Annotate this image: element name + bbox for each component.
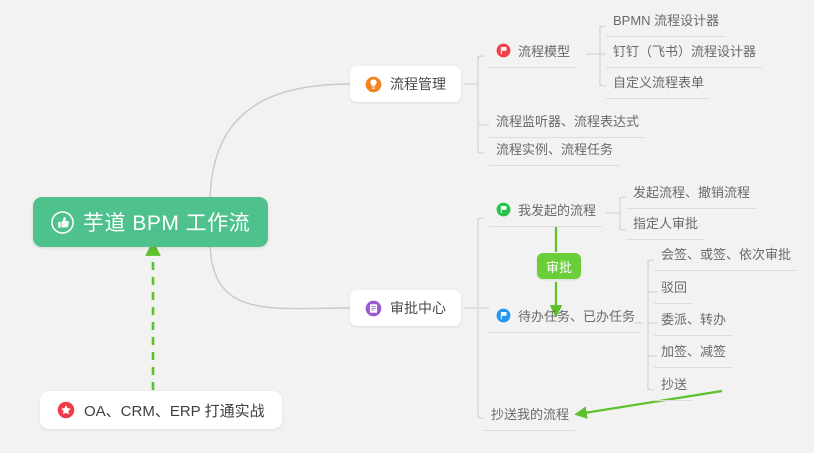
node-assignee-approval-label: 指定人审批 [633, 213, 698, 234]
node-instance-task-label: 流程实例、流程任务 [496, 139, 613, 160]
branch-node-process-management[interactable]: 流程管理 [350, 66, 461, 102]
edge-root-to-process-management [210, 84, 350, 204]
bottom-node-integration-label: OA、CRM、ERP 打通实战 [84, 400, 265, 421]
edge-approval-center-bracket [464, 218, 478, 418]
branch-node-process-management-label: 流程管理 [390, 74, 446, 94]
edge-process-model-bracket [586, 26, 600, 86]
node-countersign-approval-label: 会签、或签、依次审批 [661, 244, 791, 265]
annotation-arrow-cc [578, 391, 722, 414]
node-reject-label: 驳回 [661, 277, 687, 298]
node-cc-to-me-process[interactable]: 抄送我的流程 [484, 404, 575, 431]
node-carbon-copy[interactable]: 抄送 [654, 374, 693, 401]
node-custom-process-form-label: 自定义流程表单 [613, 72, 704, 93]
document-icon [365, 300, 382, 317]
node-process-model[interactable]: 流程模型 [489, 41, 576, 68]
node-start-cancel-process[interactable]: 发起流程、撤销流程 [626, 182, 756, 209]
thumbs-up-icon [51, 211, 74, 234]
edge-process-management-corner-top [478, 56, 484, 62]
node-todo-done-task-label: 待办任务、已办任务 [518, 306, 635, 327]
root-node-label: 芋道 BPM 工作流 [83, 207, 250, 237]
node-listener-expression[interactable]: 流程监听器、流程表达式 [489, 111, 645, 138]
node-custom-process-form[interactable]: 自定义流程表单 [606, 72, 710, 99]
star-icon [57, 401, 75, 419]
mindmap-canvas[interactable]: 芋道 BPM 工作流 流程管理 流程模型 BPMN 流程设计器 钉钉（飞书）流程 [0, 0, 814, 453]
node-process-model-label: 流程模型 [518, 41, 570, 62]
node-assignee-approval[interactable]: 指定人审批 [626, 213, 704, 240]
root-node[interactable]: 芋道 BPM 工作流 [33, 197, 268, 247]
annotation-badge-approve-label: 审批 [546, 257, 572, 276]
node-delegate-transfer-label: 委派、转办 [661, 309, 726, 330]
node-my-started-process-label: 我发起的流程 [518, 200, 596, 221]
node-add-remove-sign[interactable]: 加签、减签 [654, 341, 732, 368]
node-dingtalk-feishu-designer[interactable]: 钉钉（飞书）流程设计器 [606, 41, 762, 68]
edge-approval-center-corner-top [478, 218, 484, 224]
flag-icon [496, 202, 511, 217]
node-reject[interactable]: 驳回 [654, 277, 693, 304]
node-todo-done-task[interactable]: 待办任务、已办任务 [489, 306, 641, 333]
edge-process-management-bracket [464, 56, 478, 153]
node-dingtalk-feishu-designer-label: 钉钉（飞书）流程设计器 [613, 41, 756, 62]
branch-node-approval-center[interactable]: 审批中心 [350, 290, 461, 326]
node-start-cancel-process-label: 发起流程、撤销流程 [633, 182, 750, 203]
edge-process-management-corner-bottom [478, 147, 484, 153]
branch-node-approval-center-label: 审批中心 [390, 298, 446, 318]
node-carbon-copy-label: 抄送 [661, 374, 687, 395]
node-bpmn-designer[interactable]: BPMN 流程设计器 [606, 10, 725, 37]
node-add-remove-sign-label: 加签、减签 [661, 341, 726, 362]
bottom-node-integration[interactable]: OA、CRM、ERP 打通实战 [40, 391, 282, 429]
node-cc-to-me-process-label: 抄送我的流程 [491, 404, 569, 425]
flag-icon [496, 43, 511, 58]
node-listener-expression-label: 流程监听器、流程表达式 [496, 111, 639, 132]
annotation-badge-approve[interactable]: 审批 [537, 253, 581, 279]
flag-icon [496, 308, 511, 323]
node-delegate-transfer[interactable]: 委派、转办 [654, 309, 732, 336]
node-instance-task[interactable]: 流程实例、流程任务 [489, 139, 619, 166]
edge-my-started-bracket [606, 197, 620, 230]
edge-root-to-approval-center [210, 240, 350, 309]
node-my-started-process[interactable]: 我发起的流程 [489, 200, 602, 227]
node-countersign-approval[interactable]: 会签、或签、依次审批 [654, 244, 797, 271]
lightbulb-icon [365, 76, 382, 93]
node-bpmn-designer-label: BPMN 流程设计器 [613, 10, 719, 31]
